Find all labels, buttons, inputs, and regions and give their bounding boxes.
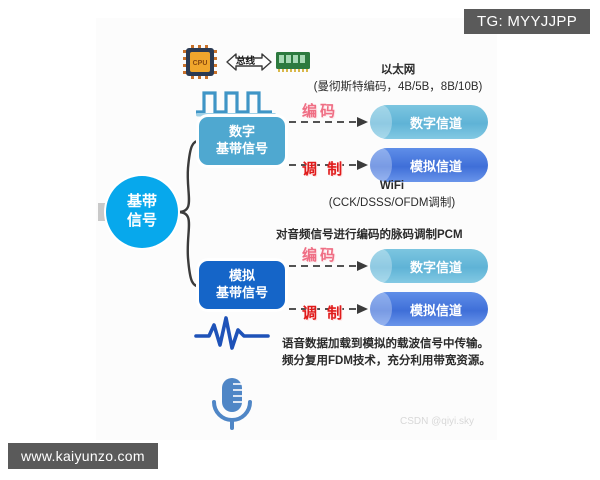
branch-digital-line2: 基带信号 [216, 141, 268, 158]
cpu-icon: CPU [183, 45, 217, 79]
watermark-website: www.kaiyunzo.com [8, 443, 158, 469]
channel-digital-1-label: 数字信道 [410, 113, 462, 132]
note-wifi: WiFi (CCK/DSSS/OFDM调制) [280, 178, 504, 211]
note-bottom-line2: 频分复用FDM技术，充分利用带宽资源。 [282, 353, 512, 370]
branch-node-analog-baseband[interactable]: 模拟 基带信号 [199, 261, 285, 309]
note-ethernet-title: 以太网 [288, 62, 508, 79]
audio-wave-icon [196, 318, 268, 348]
channel-analog-1[interactable]: 模拟信道 [370, 148, 488, 182]
edge-label-digital-encode: 编码 [302, 100, 338, 121]
note-pcm: 对音频信号进行编码的脉码调制PCM [276, 227, 510, 244]
branch-node-digital-baseband[interactable]: 数字 基带信号 [199, 117, 285, 165]
channel-analog-2[interactable]: 模拟信道 [370, 292, 488, 326]
note-wifi-title: WiFi [280, 178, 504, 195]
square-wave-icon [196, 93, 276, 117]
note-bottom: 语音数据加载到模拟的载波信号中传输。 频分复用FDM技术，充分利用带宽资源。 [282, 336, 512, 369]
watermark-telegram: TG: MYYJJPP [464, 9, 590, 34]
root-node-baseband-signal[interactable]: 基带 信号 [106, 176, 178, 248]
edge-label-analog-modulate: 调 制 [302, 302, 345, 323]
root-node-line1: 基带 [127, 193, 157, 212]
channel-analog-2-label: 模拟信道 [410, 300, 462, 319]
connector-root-to-digital [178, 140, 201, 212]
channel-digital-2[interactable]: 数字信道 [370, 249, 488, 283]
svg-text:CPU: CPU [193, 60, 208, 67]
branch-analog-line1: 模拟 [229, 268, 255, 285]
note-ethernet-detail: (曼彻斯特编码，4B/5B，8B/10B) [288, 79, 508, 96]
note-ethernet: 以太网 (曼彻斯特编码，4B/5B，8B/10B) [288, 62, 508, 95]
root-node-line2: 信号 [127, 212, 157, 231]
channel-digital-2-label: 数字信道 [410, 257, 462, 276]
edge-label-digital-modulate: 调 制 [302, 158, 345, 179]
note-bottom-line1: 语音数据加载到模拟的载波信号中传输。 [282, 336, 512, 353]
channel-analog-1-label: 模拟信道 [410, 156, 462, 175]
branch-analog-line2: 基带信号 [216, 285, 268, 302]
edge-label-analog-encode: 编码 [302, 244, 338, 265]
bus-label: 总线 [236, 53, 255, 67]
credit-text: CSDN @qiyi.sky [400, 416, 474, 427]
note-wifi-detail: (CCK/DSSS/OFDM调制) [280, 195, 504, 212]
microphone-icon [214, 378, 250, 428]
connector-root-to-analog [178, 212, 201, 287]
branch-digital-line1: 数字 [229, 124, 255, 141]
diagram-canvas: CPU [0, 0, 600, 480]
channel-digital-1[interactable]: 数字信道 [370, 105, 488, 139]
